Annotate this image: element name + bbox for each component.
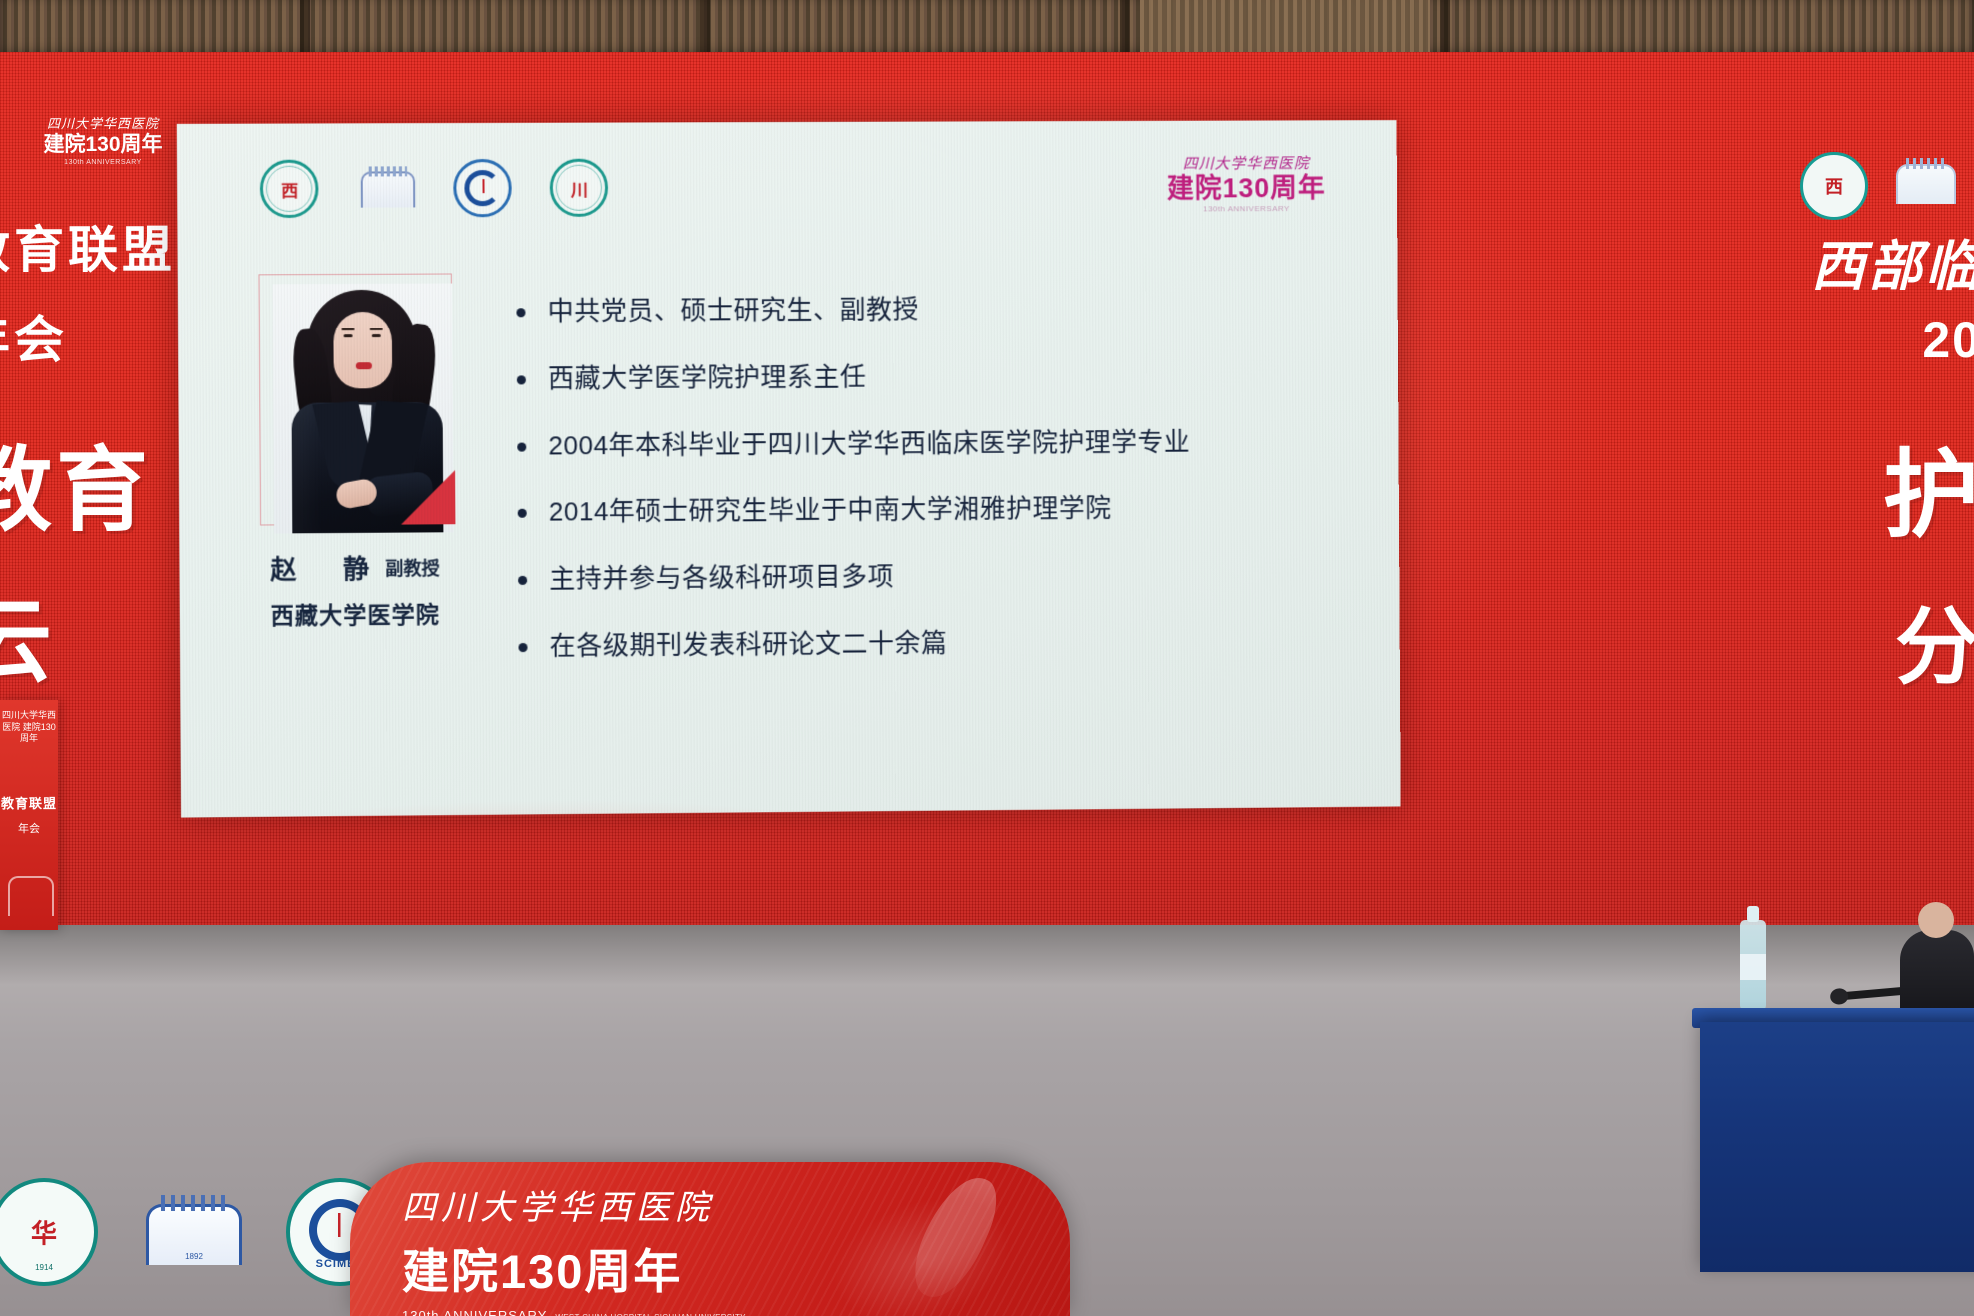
projected-slide: 西 川 四川大学华西医院 建院130周年 130th ANNIVERSARY: [177, 120, 1401, 817]
list-item: 西藏大学医学院护理系主任: [517, 358, 1305, 396]
backdrop-left-line-1: 教育联盟: [0, 210, 176, 282]
list-item: 2014年硕士研究生毕业于中南大学湘雅护理学院: [518, 491, 1306, 530]
bullet-text: 中共党员、硕士研究生、副教授: [547, 293, 919, 329]
slide-anniv-main: 建院130周年: [1167, 174, 1326, 203]
presenter-title: 副教授: [385, 554, 440, 580]
floor-logo-mark-0: 华: [31, 1214, 57, 1251]
bullet-dot-icon: [517, 375, 526, 384]
bullet-text: 2014年硕士研究生毕业于中南大学湘雅护理学院: [549, 492, 1112, 529]
slide-anniv-script: 四川大学华西医院: [1167, 156, 1326, 172]
bullet-dot-icon: [518, 576, 527, 585]
floor-shadow: [0, 925, 1974, 985]
backdrop-anniv-main: 建院130周年: [28, 134, 178, 156]
scimen-logo-icon: [453, 159, 512, 217]
water-bottle: [1740, 920, 1766, 1012]
bullet-text: 主持并参与各级科研项目多项: [549, 560, 894, 596]
slide-bottom-wave-decoration: [177, 687, 1401, 818]
bullet-text: 2004年本科毕业于四川大学华西临床医学院护理学专业: [548, 425, 1190, 463]
list-item: 在各级期刊发表科研论文二十余篇: [518, 624, 1306, 664]
rollup-line-1: 四川大学华西医院 建院130周年: [0, 710, 58, 745]
list-item: 2004年本科毕业于四川大学华西临床医学院护理学专业: [517, 425, 1305, 463]
west-china-hospital-gate-logo-icon: [357, 159, 416, 217]
backdrop-left-line-4: 云: [0, 567, 176, 700]
presenter-organization: 西藏大学医学院: [224, 595, 486, 631]
bullet-dot-icon: [516, 308, 525, 317]
list-item: 主持并参与各级科研项目多项: [518, 558, 1306, 597]
floor-logo-year-1: 1892: [185, 1252, 203, 1261]
presenter-caption: 赵 静副教授 西藏大学医学院: [224, 548, 486, 631]
floor-banner-script: 四川大学华西医院: [402, 1180, 746, 1229]
rollup-arch-icon: [8, 876, 54, 916]
backdrop-right-logos: 西: [1800, 152, 1956, 220]
backdrop-anniv-sub: 130th ANNIVERSARY: [28, 159, 178, 166]
bullet-dot-icon: [517, 442, 526, 451]
backdrop-left-text: 教育联盟 年会 教育 云: [0, 210, 176, 700]
west-china-hospital-gate-logo-icon: [1894, 152, 1956, 214]
backdrop-right-text: 西部临 20 护 分: [1811, 222, 1974, 701]
presenter-portrait: [258, 273, 461, 535]
west-china-hospital-gate-logo-icon: 1892: [142, 1182, 242, 1282]
presenter-bio-bullets: 中共党员、硕士研究生、副教授 西藏大学医学院护理系主任 2004年本科毕业于四川…: [516, 292, 1307, 697]
floor-banner-main: 建院130周年: [402, 1233, 746, 1302]
bullet-text: 西藏大学医学院护理系主任: [548, 360, 867, 396]
tibet-university-seal-icon: 西: [1800, 152, 1868, 220]
backdrop-right-line-1: 西部临: [1811, 222, 1974, 301]
rollup-line-3: 年会: [0, 820, 58, 836]
stage-scene: 四川大学华西医院 建院130周年 130th ANNIVERSARY 教育联盟 …: [0, 0, 1974, 1316]
bullet-dot-icon: [518, 643, 527, 652]
portrait-accent-triangle: [401, 470, 456, 525]
rollup-line-2: 教育联盟: [0, 793, 58, 812]
bullet-text: 在各级期刊发表科研论文二十余篇: [550, 627, 948, 664]
slide-logo-row: 西 川: [260, 159, 608, 218]
slide-anniversary-logo: 四川大学华西医院 建院130周年 130th ANNIVERSARY: [1167, 156, 1326, 214]
slide-anniv-sub: 130th ANNIVERSARY: [1167, 205, 1326, 214]
floor-anniversary-banner: 四川大学华西医院 建院130周年 130th ANNIVERSARYWEST C…: [350, 1162, 1070, 1316]
bullet-dot-icon: [518, 509, 527, 518]
presenter-name: 赵 静: [270, 549, 379, 587]
backdrop-anniversary-logo-left: 四川大学华西医院 建院130周年 130th ANNIVERSARY: [28, 118, 178, 166]
ceiling-wood-battens: [0, 0, 1974, 60]
slide-logo-mark-0: 西: [281, 176, 297, 201]
list-item: 中共党员、硕士研究生、副教授: [516, 292, 1304, 330]
panel-table-skirt: [1700, 1022, 1974, 1272]
floor-logo-row: 华 1914 1892 SCIMEN: [0, 1178, 394, 1286]
slide-logo-mark-3: 川: [571, 175, 587, 200]
backdrop-left-line-2: 年会: [0, 300, 176, 372]
floor-logo-year-0: 1914: [35, 1263, 53, 1272]
rollup-banner: 四川大学华西医院 建院130周年 教育联盟 年会: [0, 700, 58, 930]
sichuan-university-seal-icon: 川: [550, 159, 609, 217]
backdrop-anniv-script: 四川大学华西医院: [28, 118, 178, 132]
west-china-school-of-medicine-seal-icon: 华 1914: [0, 1178, 98, 1286]
backdrop-right-line-4: 分: [1811, 580, 1974, 701]
backdrop-left-line-3: 教育: [0, 416, 176, 549]
backdrop-right-logo-mark-0: 西: [1825, 173, 1843, 199]
floor-banner-sub: 130th ANNIVERSARY: [402, 1308, 547, 1316]
tibet-university-medical-college-seal-icon: 西: [260, 160, 319, 218]
backdrop-right-line-2: 20: [1811, 311, 1974, 369]
backdrop-right-line-3: 护: [1811, 417, 1974, 556]
